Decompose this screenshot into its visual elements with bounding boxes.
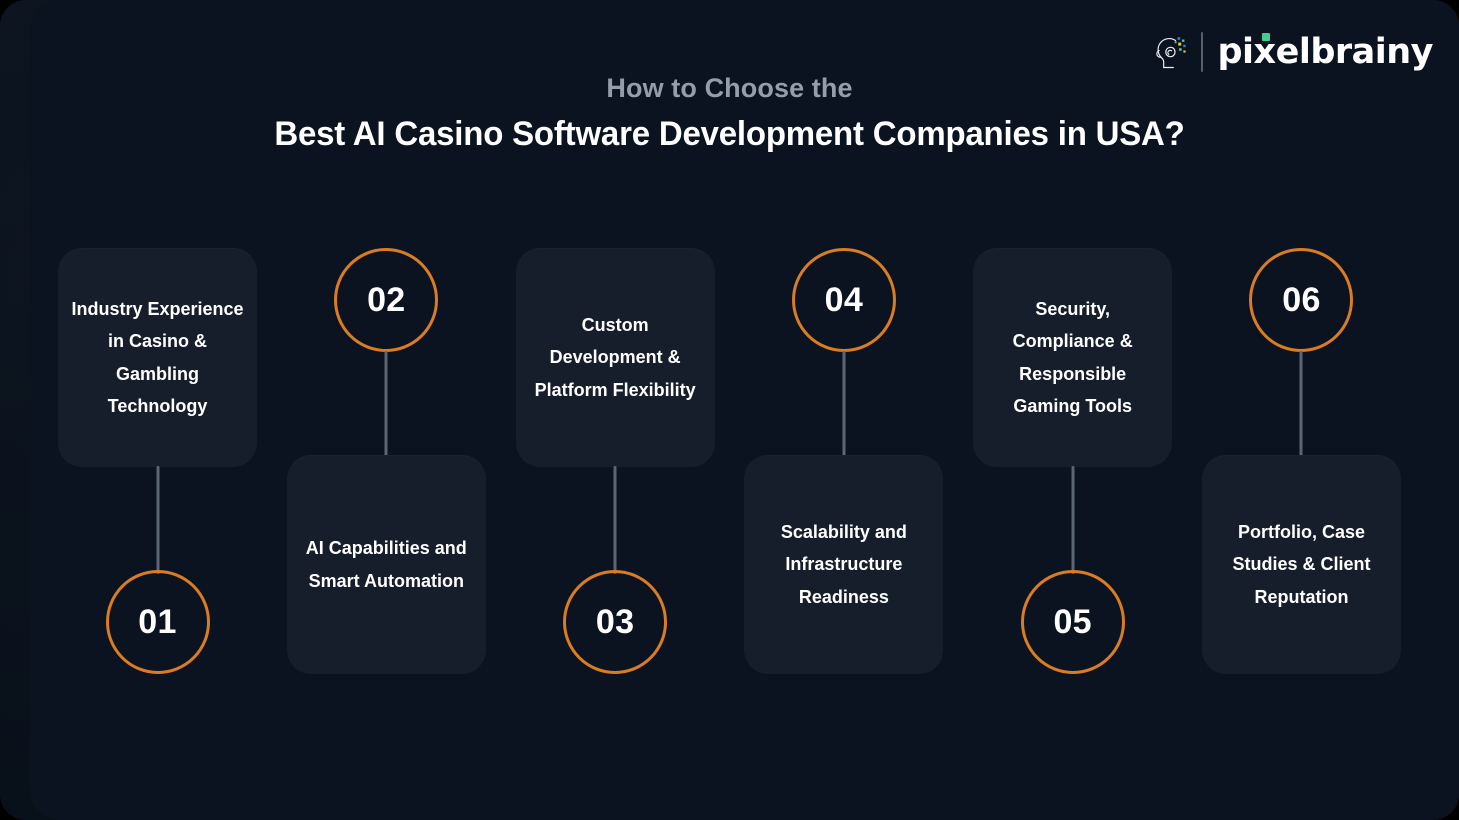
- logo-divider: [1201, 32, 1203, 72]
- heading-block: How to Choose the Best AI Casino Softwar…: [0, 72, 1459, 155]
- step-card-02: AI Capabilities and Smart Automation: [287, 455, 486, 674]
- step-number-01: 01: [138, 605, 176, 639]
- step-card-06: Portfolio, Case Studies & Client Reputat…: [1202, 455, 1401, 674]
- step-label-02: AI Capabilities and Smart Automation: [297, 532, 476, 596]
- step-badge-04: 04: [792, 248, 896, 352]
- step-card-04: Scalability and Infrastructure Readiness: [744, 455, 943, 674]
- steps-row: Industry Experience in Casino & Gambling…: [58, 248, 1401, 678]
- step-label-06: Portfolio, Case Studies & Client Reputat…: [1212, 516, 1391, 612]
- step-card-05: Security, Compliance & Responsible Gamin…: [973, 248, 1172, 467]
- step-label-04: Scalability and Infrastructure Readiness: [754, 516, 933, 612]
- step-badge-03: 03: [563, 570, 667, 674]
- logo-accent-dot: [1262, 33, 1270, 41]
- step-connector-06: [1300, 351, 1303, 459]
- step-connector-01: [156, 466, 159, 574]
- brand-logo: pixelbrainy: [1147, 28, 1433, 76]
- step-label-01: Industry Experience in Casino & Gambling…: [68, 293, 247, 421]
- step-number-02: 02: [367, 283, 405, 317]
- step-badge-02: 02: [334, 248, 438, 352]
- step-connector-05: [1071, 466, 1074, 574]
- brain-head-icon: [1147, 28, 1195, 76]
- infographic-canvas: pixelbrainy How to Choose the Best AI Ca…: [0, 0, 1459, 820]
- step-label-03: Custom Development & Platform Flexibilit…: [526, 309, 705, 405]
- logo-wordmark-text: pixelbrainy: [1217, 32, 1433, 72]
- step-column-04: 04 Scalability and Infrastructure Readin…: [744, 248, 943, 678]
- step-card-01: Industry Experience in Casino & Gambling…: [58, 248, 257, 467]
- step-connector-03: [614, 466, 617, 574]
- page-title: Best AI Casino Software Development Comp…: [22, 114, 1437, 155]
- step-badge-06: 06: [1249, 248, 1353, 352]
- step-connector-02: [385, 351, 388, 459]
- step-number-03: 03: [596, 605, 634, 639]
- step-card-03: Custom Development & Platform Flexibilit…: [516, 248, 715, 467]
- step-column-02: 02 AI Capabilities and Smart Automation: [287, 248, 486, 678]
- step-badge-01: 01: [106, 570, 210, 674]
- step-connector-04: [842, 351, 845, 459]
- step-label-05: Security, Compliance & Responsible Gamin…: [983, 293, 1162, 421]
- step-column-03: Custom Development & Platform Flexibilit…: [516, 248, 715, 678]
- heading-eyebrow: How to Choose the: [0, 72, 1459, 104]
- step-number-05: 05: [1053, 605, 1091, 639]
- step-number-06: 06: [1282, 283, 1320, 317]
- step-column-01: Industry Experience in Casino & Gambling…: [58, 248, 257, 678]
- logo-wordmark: pixelbrainy: [1217, 35, 1433, 70]
- step-number-04: 04: [825, 283, 863, 317]
- step-column-06: 06 Portfolio, Case Studies & Client Repu…: [1202, 248, 1401, 678]
- step-badge-05: 05: [1021, 570, 1125, 674]
- step-column-05: Security, Compliance & Responsible Gamin…: [973, 248, 1172, 678]
